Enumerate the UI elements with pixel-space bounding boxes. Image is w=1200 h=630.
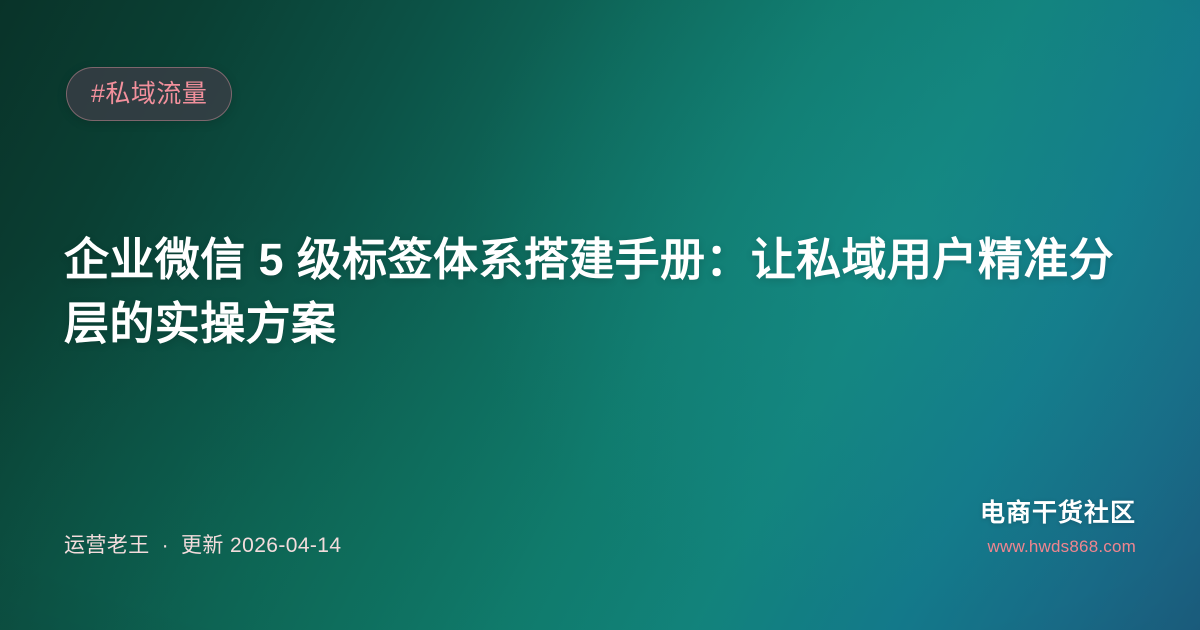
brand-url[interactable]: www.hwds868.com [980, 537, 1136, 557]
brand-block: 电商干货社区 www.hwds868.com [980, 498, 1136, 558]
update-date: 更新 2026-04-14 [181, 534, 341, 557]
byline: 运营老王·更新 2026-04-14 [64, 532, 341, 559]
brand-name: 电商干货社区 [980, 498, 1136, 529]
topic-tag-label: #私域流量 [91, 82, 207, 107]
topic-tag-badge[interactable]: #私域流量 [66, 67, 232, 121]
article-cover-banner: #私域流量 企业微信 5 级标签体系搭建手册：让私域用户精准分层的实操方案 运营… [0, 0, 1200, 630]
author-name: 运营老王 [64, 534, 150, 557]
banner-content: #私域流量 企业微信 5 级标签体系搭建手册：让私域用户精准分层的实操方案 运营… [0, 0, 1200, 630]
byline-separator: · [150, 534, 181, 557]
page-title: 企业微信 5 级标签体系搭建手册：让私域用户精准分层的实操方案 [64, 228, 1140, 356]
